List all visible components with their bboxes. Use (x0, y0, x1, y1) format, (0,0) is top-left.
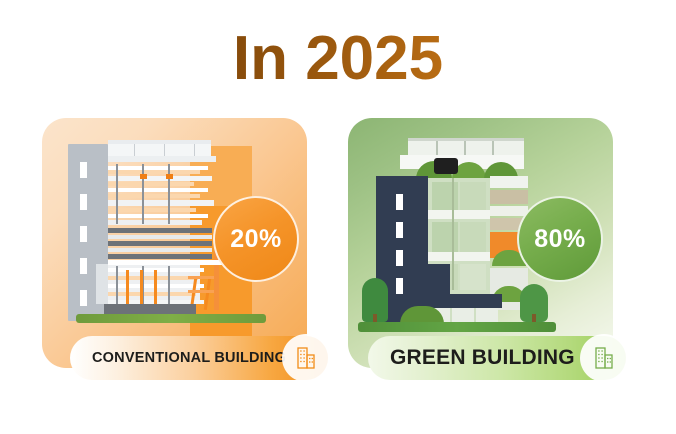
office-building-icon (282, 334, 330, 382)
label-text-conventional: CONVENTIONAL BUILDING (92, 350, 286, 366)
card-conventional-building[interactable]: 20% (42, 118, 307, 368)
label-bar-conventional-building[interactable]: CONVENTIONAL BUILDING (70, 336, 328, 380)
percent-badge-conventional: 20% (213, 196, 299, 282)
percent-value: 80% (534, 225, 586, 254)
percent-value: 20% (230, 225, 282, 254)
office-building-icon (580, 334, 628, 382)
percent-badge-green: 80% (517, 196, 603, 282)
label-text-green: GREEN BUILDING (390, 346, 575, 370)
card-green-building[interactable]: 80% (348, 118, 613, 368)
label-bar-green-building[interactable]: GREEN BUILDING (368, 336, 626, 380)
page-title: In 2025 (0, 28, 676, 90)
